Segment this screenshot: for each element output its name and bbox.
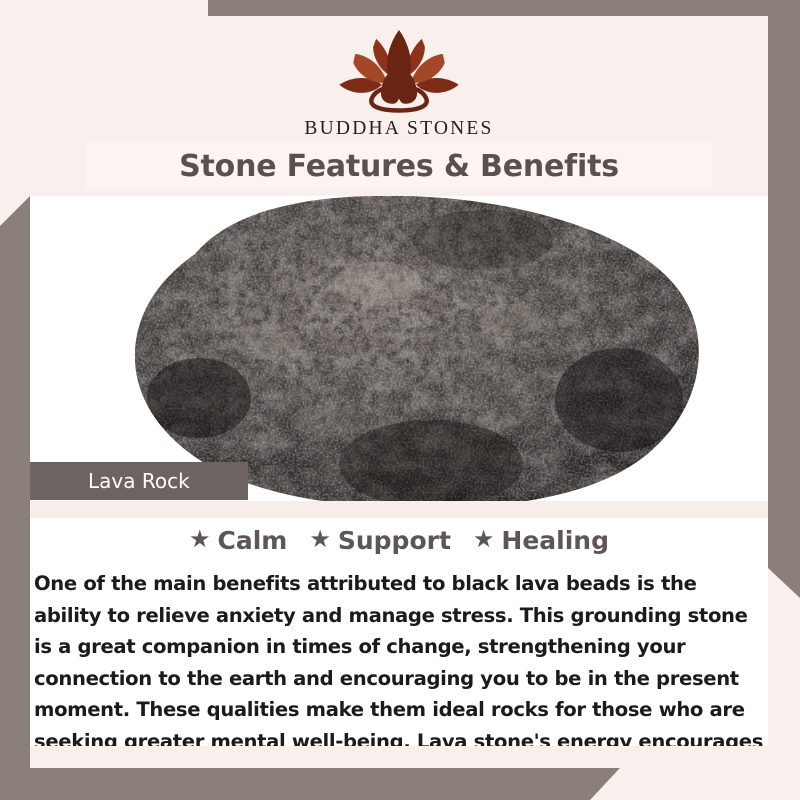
lava-rock-photo <box>30 196 768 501</box>
card-bottom-strip <box>30 746 768 768</box>
star-icon: ★ <box>473 528 495 552</box>
benefit-label-calm: Calm <box>217 526 287 555</box>
title-banner: Stone Features & Benefits <box>86 142 712 190</box>
star-icon: ★ <box>309 528 331 552</box>
brand-name: BUDDHA STONES <box>304 118 493 140</box>
description-paragraph: One of the main benefits attributed to b… <box>34 568 764 768</box>
brand-header: BUDDHA STONES Stone Features & Benefits <box>30 16 768 196</box>
benefit-label-support: Support <box>338 526 451 555</box>
photo-divider-strip <box>30 501 768 518</box>
frame-bar-bottom <box>0 768 620 800</box>
info-card: BUDDHA STONES Stone Features & Benefits <box>30 16 768 768</box>
benefit-item-healing: ★ Healing <box>473 526 609 555</box>
frame-bar-top <box>208 0 800 16</box>
brand-logo: BUDDHA STONES <box>30 24 768 140</box>
benefit-item-support: ★ Support <box>309 526 451 555</box>
benefit-label-healing: Healing <box>501 526 609 555</box>
frame-bar-right <box>768 0 800 598</box>
page-title: Stone Features & Benefits <box>179 149 619 184</box>
benefits-row: ★ Calm ★ Support ★ Healing <box>30 526 768 555</box>
lotus-meditation-figure-icon <box>324 24 474 116</box>
photo-caption-label: Lava Rock <box>88 469 190 493</box>
frame-bar-left <box>0 196 30 800</box>
photo-caption: Lava Rock <box>30 462 248 500</box>
benefit-item-calm: ★ Calm <box>189 526 287 555</box>
star-icon: ★ <box>189 528 211 552</box>
lava-rock-image <box>79 196 719 501</box>
